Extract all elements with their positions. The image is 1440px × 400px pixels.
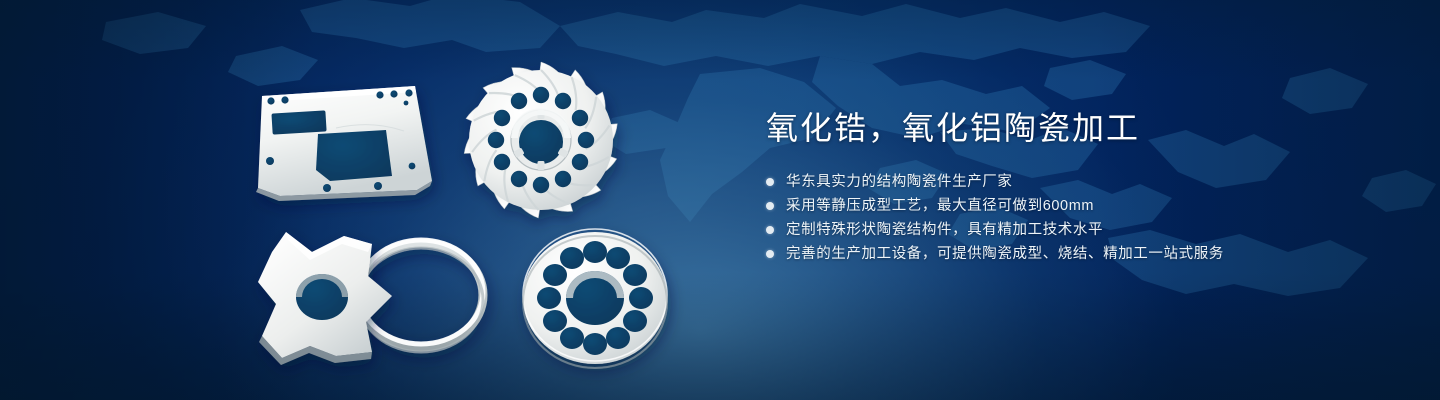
bullet-dot-icon bbox=[766, 178, 774, 186]
product-ceramic-perforated-disc bbox=[523, 229, 667, 368]
list-item: 华东具实力的结构陶瓷件生产厂家 bbox=[766, 170, 1386, 194]
bullet-dot-icon bbox=[766, 202, 774, 210]
list-item: 采用等静压成型工艺，最大直径可做到600mm bbox=[766, 194, 1386, 218]
feature-text: 定制特殊形状陶瓷结构件，具有精加工技术水平 bbox=[786, 218, 1103, 242]
banner-copy: 氧化锆，氧化铝陶瓷加工 华东具实力的结构陶瓷件生产厂家 采用等静压成型工艺，最大… bbox=[766, 108, 1386, 266]
product-ceramic-plate bbox=[256, 86, 432, 201]
list-item: 定制特殊形状陶瓷结构件，具有精加工技术水平 bbox=[766, 218, 1386, 242]
feature-text: 华东具实力的结构陶瓷件生产厂家 bbox=[786, 170, 1013, 194]
feature-text: 采用等静压成型工艺，最大直径可做到600mm bbox=[786, 194, 1094, 218]
feature-list: 华东具实力的结构陶瓷件生产厂家 采用等静压成型工艺，最大直径可做到600mm 定… bbox=[766, 170, 1386, 266]
list-item: 完善的生产加工设备，可提供陶瓷成型、烧结、精加工一站式服务 bbox=[766, 242, 1386, 266]
product-photo-group bbox=[0, 0, 720, 400]
feature-text: 完善的生产加工设备，可提供陶瓷成型、烧结、精加工一站式服务 bbox=[786, 242, 1224, 266]
banner-headline: 氧化锆，氧化铝陶瓷加工 bbox=[766, 108, 1386, 148]
bullet-dot-icon bbox=[766, 250, 774, 258]
product-ceramic-cross-plate bbox=[258, 232, 392, 365]
bullet-dot-icon bbox=[766, 226, 774, 234]
product-ceramic-impeller bbox=[459, 57, 623, 222]
hero-banner: 氧化锆，氧化铝陶瓷加工 华东具实力的结构陶瓷件生产厂家 采用等静压成型工艺，最大… bbox=[0, 0, 1440, 400]
